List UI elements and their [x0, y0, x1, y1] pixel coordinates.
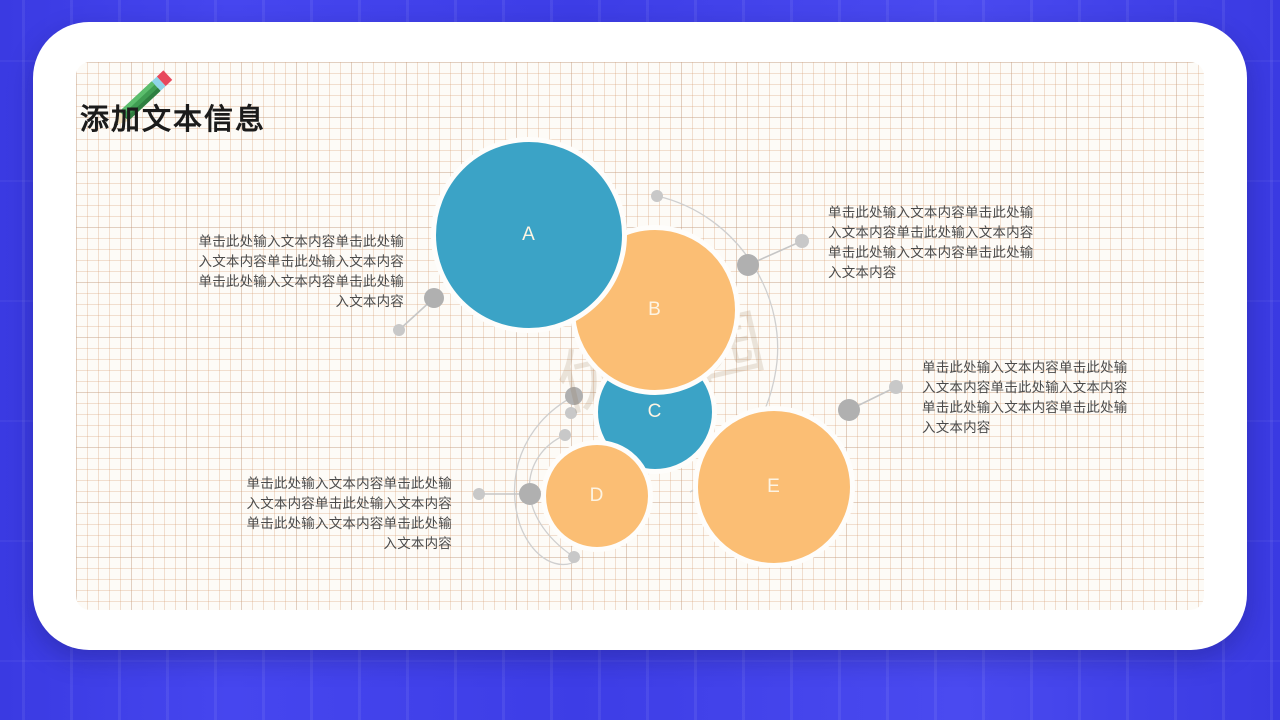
- callout-line: 单击此处输入文本内容单击此处输: [922, 398, 1182, 418]
- callout-line: 单击此处输入文本内容单击此处输: [828, 243, 1088, 263]
- callout-d: 单击此处输入文本内容单击此处输入文本内容单击此处输入文本内容单击此处输入文本内容…: [196, 474, 452, 554]
- slide-root: 添加文本信息 ABCDE 优品园 单击此处输入文本内容单击此处输入文本内容单击此…: [0, 0, 1280, 720]
- callout-line: 入文本内容: [828, 263, 1088, 283]
- callout-line: 入文本内容: [922, 418, 1182, 438]
- bubble-e[interactable]: E: [693, 406, 855, 568]
- callout-e: 单击此处输入文本内容单击此处输入文本内容单击此处输入文本内容单击此处输入文本内容…: [922, 358, 1182, 438]
- bubble-label: D: [590, 485, 605, 507]
- callout-line: 入文本内容: [196, 534, 452, 554]
- callout-line: 入文本内容单击此处输入文本内容: [828, 223, 1088, 243]
- bubble-d[interactable]: D: [541, 440, 653, 552]
- callout-a: 单击此处输入文本内容单击此处输入文本内容单击此处输入文本内容单击此处输入文本内容…: [148, 232, 404, 312]
- bubble-label: A: [522, 224, 536, 246]
- callout-line: 单击此处输入文本内容单击此处输: [196, 474, 452, 494]
- callout-line: 单击此处输入文本内容单击此处输: [196, 514, 452, 534]
- callout-line: 入文本内容单击此处输入文本内容: [148, 252, 404, 272]
- callout-line: 单击此处输入文本内容单击此处输: [922, 358, 1182, 378]
- callout-line: 单击此处输入文本内容单击此处输: [148, 232, 404, 252]
- callout-line: 入文本内容: [148, 292, 404, 312]
- bubble-label: B: [648, 299, 662, 321]
- page-title: 添加文本信息: [80, 96, 266, 138]
- bubble-label: C: [648, 401, 663, 423]
- callout-b: 单击此处输入文本内容单击此处输入文本内容单击此处输入文本内容单击此处输入文本内容…: [828, 203, 1088, 283]
- callout-line: 单击此处输入文本内容单击此处输: [828, 203, 1088, 223]
- callout-line: 入文本内容单击此处输入文本内容: [922, 378, 1182, 398]
- callout-line: 入文本内容单击此处输入文本内容: [196, 494, 452, 514]
- bubble-a[interactable]: A: [431, 137, 627, 333]
- bubble-label: E: [767, 476, 781, 498]
- callout-line: 单击此处输入文本内容单击此处输: [148, 272, 404, 292]
